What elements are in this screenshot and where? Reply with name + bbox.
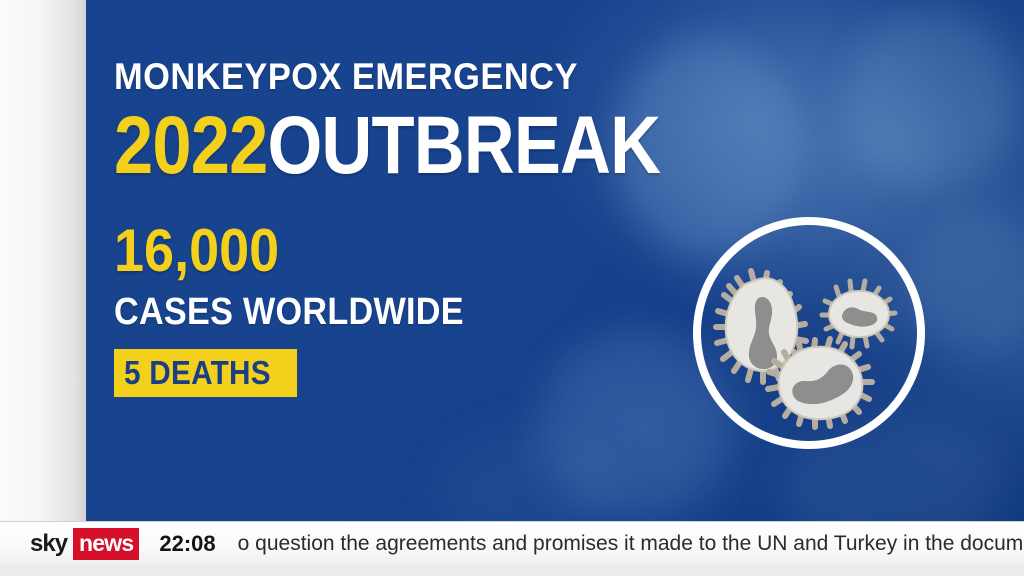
graphic-headline: 2022OUTBREAK: [114, 107, 596, 185]
sky-wordmark: sky: [30, 532, 67, 556]
graphic-headline-year: 2022: [114, 100, 267, 191]
graphic-stat-number: 16,000: [114, 221, 618, 281]
broadcast-screen: MONKEYPOX EMERGENCY 2022OUTBREAK 16,000 …: [0, 0, 1024, 576]
monkeypox-graphic-panel: MONKEYPOX EMERGENCY 2022OUTBREAK 16,000 …: [86, 0, 1024, 521]
graphic-text-block: MONKEYPOX EMERGENCY 2022OUTBREAK 16,000 …: [114, 58, 674, 397]
ticker-headline-text: o question the agreements and promises i…: [238, 532, 1024, 556]
ticker-bottom-band: [0, 565, 1024, 576]
deaths-badge-label: 5 DEATHS: [124, 356, 271, 389]
ticker-clock: 22:08: [159, 531, 215, 557]
news-wordmark: news: [73, 528, 139, 560]
news-ticker-bar: sky news 22:08 o question the agreements…: [0, 521, 1024, 565]
deaths-badge: 5 DEATHS: [114, 349, 297, 397]
graphic-headline-word: OUTBREAK: [267, 100, 660, 191]
background-texture-blob: [846, 10, 1016, 190]
graphic-kicker: MONKEYPOX EMERGENCY: [114, 58, 635, 95]
graphic-stat-label: CASES WORLDWIDE: [114, 293, 618, 331]
background-texture-blob: [436, 430, 616, 521]
virus-particles-circle-icon: [689, 213, 929, 453]
left-letterbox-strip: [0, 0, 86, 521]
sky-news-logo: sky news: [30, 528, 139, 560]
